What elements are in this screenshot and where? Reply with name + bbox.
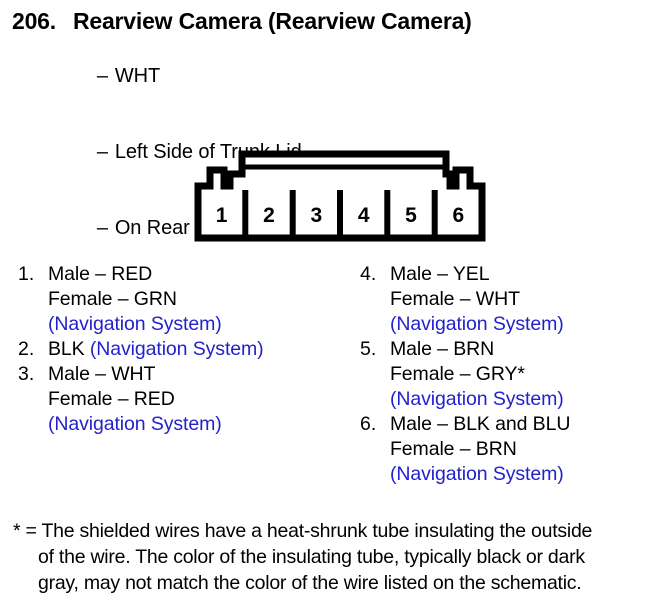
pin-entry-3: 3. Male – WHT Female – RED (Navigation S… bbox=[18, 362, 348, 437]
pin-label-1: 1 bbox=[216, 204, 228, 227]
pin-wire-male: Male – YEL bbox=[390, 262, 564, 287]
pin-system-note: (Navigation System) bbox=[48, 412, 222, 437]
pin-entry-number: 2. bbox=[18, 337, 48, 362]
pin-wire-female: Female – RED bbox=[48, 387, 222, 412]
pin-entry-body: Male – BRN Female – GRY* (Navigation Sys… bbox=[390, 337, 564, 412]
pin-entry-number: 6. bbox=[360, 412, 390, 437]
dash-marker: – bbox=[97, 65, 115, 88]
pin-column-right: 4. Male – YEL Female – WHT (Navigation S… bbox=[360, 262, 660, 487]
pin-wire-male: Male – RED bbox=[48, 262, 222, 287]
footnote-line-1: * = The shielded wires have a heat-shrun… bbox=[13, 518, 653, 544]
pin-label-2: 2 bbox=[263, 204, 275, 227]
pin-column-left: 1. Male – RED Female – GRN (Navigation S… bbox=[18, 262, 348, 437]
pin-entry-number: 5. bbox=[360, 337, 390, 362]
dash-marker: – bbox=[97, 217, 115, 240]
header-detail-line-1: –WHT bbox=[0, 42, 662, 111]
pin-entry-body: BLK (Navigation System) bbox=[48, 337, 264, 362]
pin-entry-body: Male – WHT Female – RED (Navigation Syst… bbox=[48, 362, 222, 437]
footnote: * = The shielded wires have a heat-shrun… bbox=[13, 518, 653, 596]
pin-wire-female: Female – BRN bbox=[390, 437, 570, 462]
pin-system-note: (Navigation System) bbox=[90, 338, 264, 360]
pin-entry-number: 1. bbox=[18, 262, 48, 287]
pin-wire-female: Female – GRY* bbox=[390, 362, 564, 387]
pin-wire-female: Female – WHT bbox=[390, 287, 564, 312]
pin-wire-single: BLK (Navigation System) bbox=[48, 337, 264, 362]
pin-system-note: (Navigation System) bbox=[390, 312, 564, 337]
pin-entry-2: 2. BLK (Navigation System) bbox=[18, 337, 348, 362]
section-title: Rearview Camera (Rearview Camera) bbox=[73, 8, 472, 35]
header-detail-text: WHT bbox=[115, 65, 160, 87]
pin-entry-4: 4. Male – YEL Female – WHT (Navigation S… bbox=[360, 262, 660, 337]
pin-entry-body: Male – BLK and BLU Female – BRN (Navigat… bbox=[390, 412, 570, 487]
pin-entry-number: 3. bbox=[18, 362, 48, 387]
pin-wire-male: Male – WHT bbox=[48, 362, 222, 387]
pin-wire-color: BLK bbox=[48, 338, 90, 360]
pin-wire-male: Male – BRN bbox=[390, 337, 564, 362]
pin-label-5: 5 bbox=[405, 204, 417, 227]
footnote-line-2: of the wire. The color of the insulating… bbox=[13, 544, 653, 570]
footnote-line-3: gray, may not match the color of the wir… bbox=[13, 570, 653, 596]
pin-label-4: 4 bbox=[358, 204, 370, 227]
pin-entry-6: 6. Male – BLK and BLU Female – BRN (Navi… bbox=[360, 412, 660, 487]
connector-diagram: 1 2 3 4 5 6 bbox=[194, 148, 486, 244]
pin-wire-female: Female – GRN bbox=[48, 287, 222, 312]
page-title: 206. Rearview Camera (Rearview Camera) bbox=[0, 0, 662, 35]
pin-system-note: (Navigation System) bbox=[390, 387, 564, 412]
pin-label-6: 6 bbox=[453, 204, 465, 227]
pin-wire-male: Male – BLK and BLU bbox=[390, 412, 570, 437]
pin-system-note: (Navigation System) bbox=[48, 312, 222, 337]
pin-entry-1: 1. Male – RED Female – GRN (Navigation S… bbox=[18, 262, 348, 337]
dash-marker: – bbox=[97, 141, 115, 164]
pin-entry-5: 5. Male – BRN Female – GRY* (Navigation … bbox=[360, 337, 660, 412]
section-number: 206. bbox=[12, 8, 56, 35]
pin-entry-body: Male – RED Female – GRN (Navigation Syst… bbox=[48, 262, 222, 337]
pin-entry-number: 4. bbox=[360, 262, 390, 287]
pin-system-note: (Navigation System) bbox=[390, 462, 570, 487]
pin-label-3: 3 bbox=[310, 204, 322, 227]
connector-svg: 1 2 3 4 5 6 bbox=[194, 148, 486, 244]
pin-entry-body: Male – YEL Female – WHT (Navigation Syst… bbox=[390, 262, 564, 337]
